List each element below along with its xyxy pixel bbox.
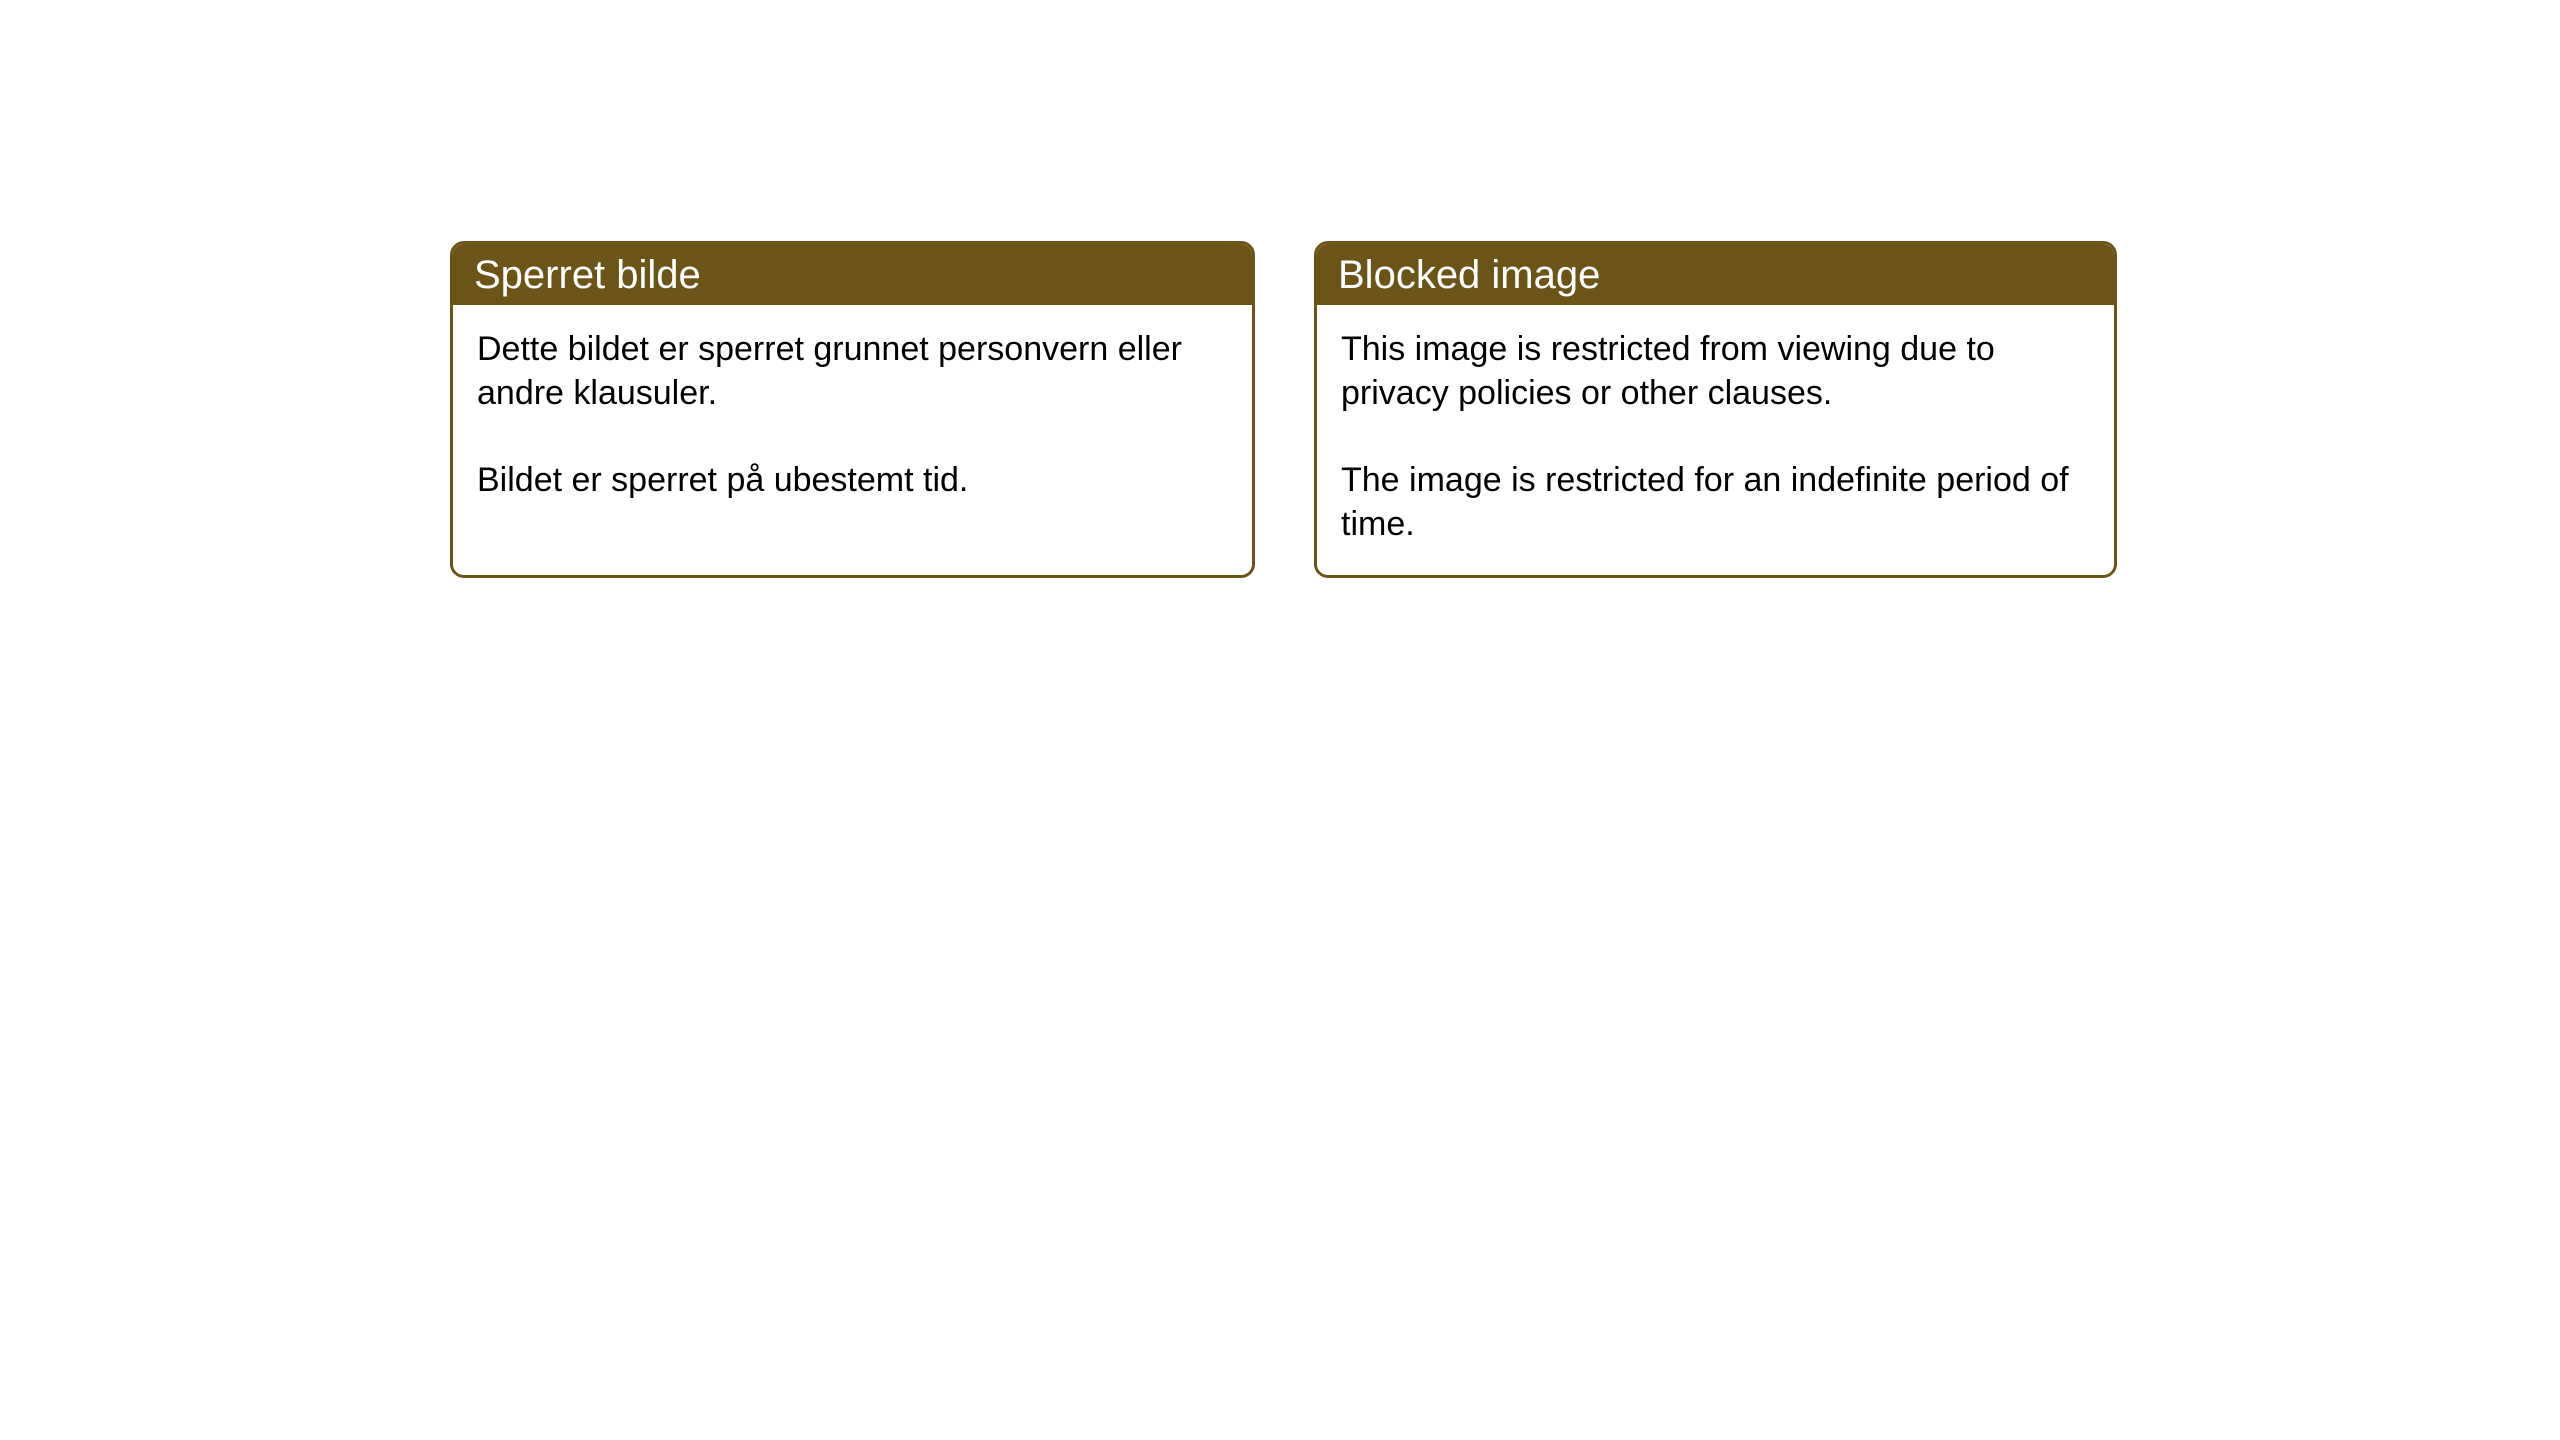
- card-header-norwegian: Sperret bilde: [453, 244, 1252, 305]
- card-paragraph-reason-english: This image is restricted from viewing du…: [1341, 327, 2102, 415]
- blocked-image-notice-card-norwegian: Sperret bilde Dette bildet er sperret gr…: [450, 241, 1255, 578]
- card-paragraph-duration-english: The image is restricted for an indefinit…: [1341, 458, 2102, 546]
- card-header-english: Blocked image: [1317, 244, 2114, 305]
- card-body-english: This image is restricted from viewing du…: [1317, 305, 2114, 575]
- card-body-norwegian: Dette bildet er sperret grunnet personve…: [453, 305, 1252, 575]
- card-title-norwegian: Sperret bilde: [474, 253, 701, 297]
- card-paragraph-duration-norwegian: Bildet er sperret på ubestemt tid.: [477, 458, 1236, 502]
- card-paragraph-reason-norwegian: Dette bildet er sperret grunnet personve…: [477, 327, 1236, 415]
- blocked-image-notice-card-english: Blocked image This image is restricted f…: [1314, 241, 2117, 578]
- card-title-english: Blocked image: [1338, 253, 1600, 297]
- blocked-image-notice-group: Sperret bilde Dette bildet er sperret gr…: [450, 241, 2117, 578]
